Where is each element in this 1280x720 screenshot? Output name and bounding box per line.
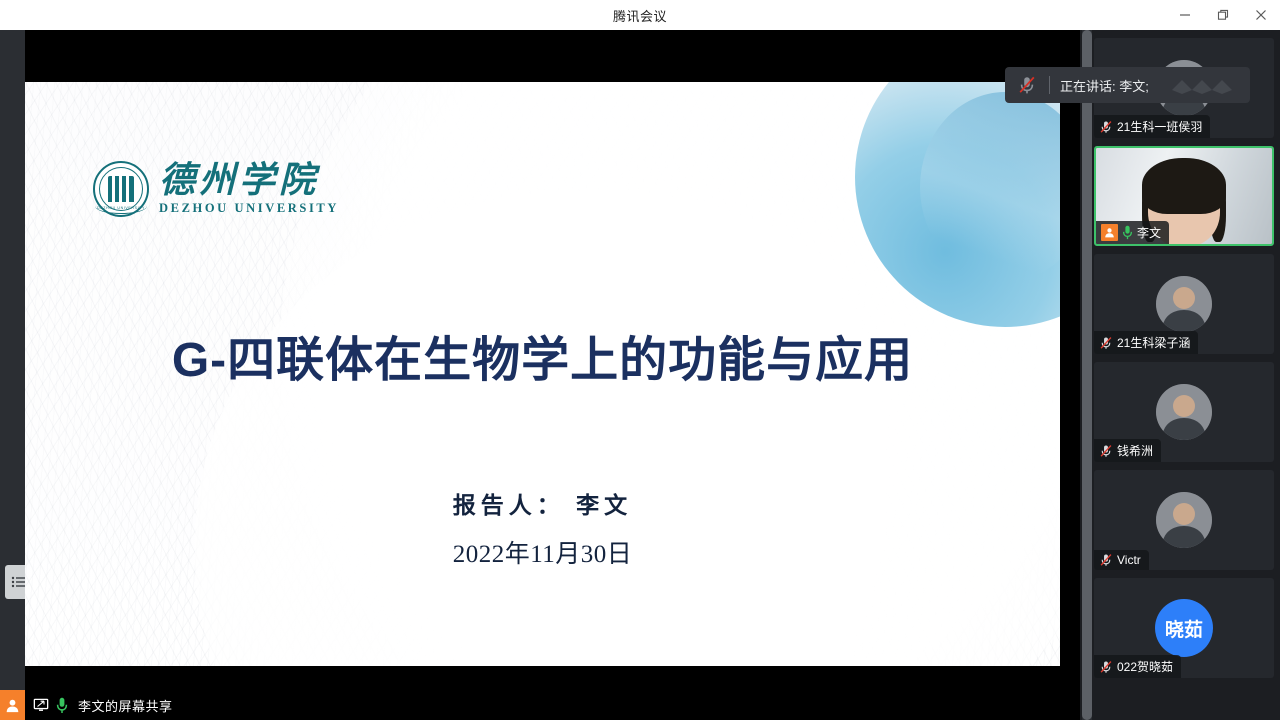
participant-name: 21生科梁子涵 [1117, 334, 1190, 351]
microphone-muted-icon [1099, 444, 1113, 458]
screen-share-icon[interactable] [33, 698, 49, 712]
screen-share-label: 李文的屏幕共享 [78, 696, 173, 715]
participant-sidebar: 21生科一班侯羽李文21生科梁子涵钱希洲Victr晓茹022贺晓茹 [1080, 30, 1280, 720]
participant-scroll-thumb[interactable] [1082, 30, 1092, 720]
close-button[interactable] [1242, 0, 1280, 30]
participant-tile[interactable]: Victr [1094, 470, 1274, 570]
university-logo: DEZHOU UNIVERSITY 德州学院 DEZHOU UNIVERSITY [93, 161, 339, 217]
microphone-muted-icon [1099, 336, 1113, 350]
participant-name-bar: 钱希洲 [1094, 439, 1161, 462]
participant-name-bar: 21生科梁子涵 [1094, 331, 1198, 354]
participant-name: 022贺晓茹 [1117, 658, 1173, 675]
microphone-muted-icon [1099, 660, 1113, 674]
speaking-toast: 正在讲话: 李文; [1005, 67, 1250, 103]
participant-name-bar: 李文 [1096, 221, 1169, 244]
slide-title-main: 四联体在生物学上的功能与应用 [227, 334, 913, 387]
participant-tile[interactable]: 晓茹022贺晓茹 [1094, 578, 1274, 678]
host-person-icon [0, 690, 25, 720]
slide-title-lead: G- [172, 334, 227, 387]
participant-tile[interactable]: 钱希洲 [1094, 362, 1274, 462]
avatar: 晓茹 [1155, 599, 1213, 657]
microphone-muted-icon [1099, 553, 1113, 567]
speaking-toast-text: 正在讲话: 李文; [1060, 76, 1149, 95]
avatar [1156, 276, 1212, 332]
university-seal-icon: DEZHOU UNIVERSITY [93, 161, 149, 217]
minimize-button[interactable] [1166, 0, 1204, 30]
microphone-muted-icon [1005, 75, 1049, 95]
participant-name-bar: 022贺晓茹 [1094, 655, 1181, 678]
participant-name-bar: 21生科一班侯羽 [1094, 115, 1210, 138]
maximize-button[interactable] [1204, 0, 1242, 30]
window-controls [1166, 0, 1280, 30]
seal-arc-text: DEZHOU UNIVERSITY [95, 198, 147, 214]
participant-name-bar: Victr [1094, 550, 1149, 570]
host-badge-icon [1101, 224, 1118, 241]
slide-date-text: 2022年11月30日 [447, 541, 639, 568]
presentation-slide: DEZHOU UNIVERSITY 德州学院 DEZHOU UNIVERSITY… [25, 82, 1060, 666]
chevron-decoration-icon [1170, 74, 1236, 96]
participant-tiles: 21生科一班侯羽李文21生科梁子涵钱希洲Victr晓茹022贺晓茹 [1094, 30, 1280, 720]
university-name-cn: 德州学院 [159, 162, 339, 200]
slide-presenter: 报告人： 李文 [25, 486, 1060, 520]
participant-name: Victr [1117, 553, 1141, 567]
tencent-meeting-window: 腾讯会议 [0, 0, 1280, 720]
microphone-on-icon [1122, 225, 1133, 240]
participant-name: 钱希洲 [1117, 442, 1153, 459]
participant-tile[interactable]: 21生科梁子涵 [1094, 254, 1274, 354]
avatar [1156, 384, 1212, 440]
participant-tile[interactable]: 李文 [1094, 146, 1274, 246]
microphone-on-icon[interactable] [56, 697, 68, 714]
slide-letterbox: DEZHOU UNIVERSITY 德州学院 DEZHOU UNIVERSITY… [25, 30, 1060, 690]
shared-screen-stage: DEZHOU UNIVERSITY 德州学院 DEZHOU UNIVERSITY… [0, 30, 1080, 690]
bottom-status-bar: 李文的屏幕共享 [0, 690, 1080, 720]
window-title: 腾讯会议 [613, 6, 667, 25]
slide-date: 2022年11月30日 [25, 534, 1060, 570]
university-name-en: DEZHOU UNIVERSITY [159, 201, 339, 216]
toast-divider [1049, 76, 1050, 94]
participant-name: 21生科一班侯羽 [1117, 118, 1202, 135]
avatar [1156, 492, 1212, 548]
window-titlebar: 腾讯会议 [0, 0, 1280, 30]
slide-title: G-四联体在生物学上的功能与应用 [25, 320, 1060, 390]
bottom-bar-icons [25, 697, 68, 714]
microphone-muted-icon [1099, 120, 1113, 134]
participant-name: 李文 [1137, 224, 1161, 241]
